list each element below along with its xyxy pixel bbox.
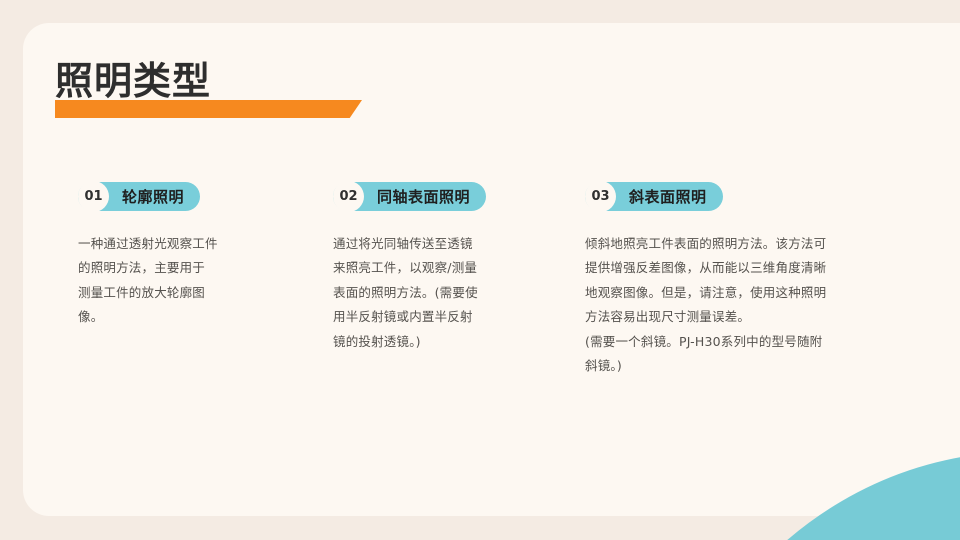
slide-canvas: 照明类型 01 轮廓照明 一种通过透射光观察工件 的照明方法，主要用于 测量工件… [0,0,960,540]
column-number-badge-02: 02 [333,181,364,212]
column-body-03: 倾斜地照亮工件表面的照明方法。该方法可 提供增强反差图像，从而能以三维角度清晰 … [585,232,875,378]
column-header-pill-01[interactable]: 01 轮廓照明 [78,182,200,211]
lighting-column-02: 02 同轴表面照明 通过将光同轴传送至透镜 来照亮工件，以观察/测量 表面的照明… [333,182,563,354]
column-title-03: 斜表面照明 [629,186,707,207]
column-title-02: 同轴表面照明 [377,186,470,207]
column-header-pill-02[interactable]: 02 同轴表面照明 [333,182,486,211]
column-body-01: 一种通过透射光观察工件 的照明方法，主要用于 测量工件的放大轮廓图 像。 [78,232,308,330]
lighting-column-01: 01 轮廓照明 一种通过透射光观察工件 的照明方法，主要用于 测量工件的放大轮廓… [78,182,308,330]
page-title: 照明类型 [55,62,211,100]
column-body-02: 通过将光同轴传送至透镜 来照亮工件，以观察/测量 表面的照明方法。(需要使 用半… [333,232,563,354]
column-header-pill-03[interactable]: 03 斜表面照明 [585,182,723,211]
column-number-badge-03: 03 [585,181,616,212]
lighting-column-03: 03 斜表面照明 倾斜地照亮工件表面的照明方法。该方法可 提供增强反差图像，从而… [585,182,875,378]
title-block: 照明类型 [55,62,211,100]
column-title-01: 轮廓照明 [122,186,184,207]
column-number-badge-01: 01 [78,181,109,212]
